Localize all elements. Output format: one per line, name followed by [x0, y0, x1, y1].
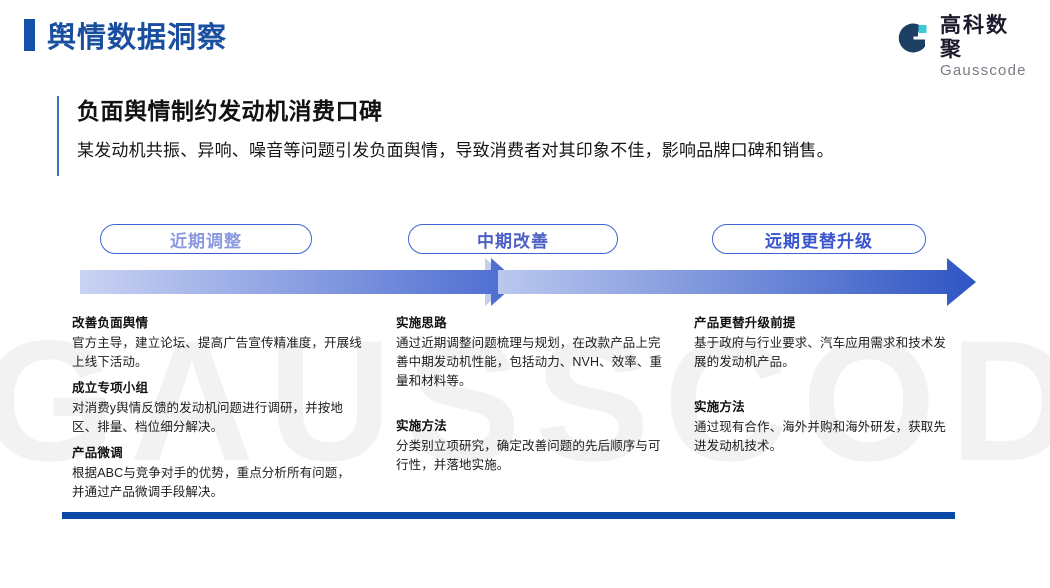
brand-name-en: Gausscode: [940, 62, 1028, 80]
section-body: 官方主导，建立论坛、提高广告宣传精准度，开展线上线下活动。: [72, 334, 362, 372]
section-heading: 改善负面舆情: [72, 314, 362, 333]
phase-pill-near-term[interactable]: 近期调整: [100, 224, 312, 254]
column-long-term: 产品更替升级前提 基于政府与行业要求、汽车应用需求和技术发展的发动机产品。 实施…: [694, 314, 956, 458]
bottom-accent-bar: [62, 512, 955, 519]
column-mid-term: 实施思路 通过近期调整问题梳理与规划，在改款产品上完善中期发动机性能，包括动力、…: [396, 314, 666, 477]
section-heading: 实施方法: [396, 417, 666, 436]
column-near-term: 改善负面舆情 官方主导，建立论坛、提高广告宣传精准度，开展线上线下活动。 成立专…: [72, 314, 362, 504]
page-header: 舆情数据洞察 高科数聚 Gausscode: [0, 0, 1050, 76]
phase-pill-long-term[interactable]: 远期更替升级: [712, 224, 926, 254]
section-heading: 实施思路: [396, 314, 666, 333]
brand-logo: 高科数聚 Gausscode: [892, 14, 1028, 62]
section-body: 分类别立项研究，确定改善问题的先后顺序与可行性，并落地实施。: [396, 437, 666, 475]
section-block: 产品微调 根据ABC与竞争对手的优势，重点分析所有问题，并通过产品微调手段解决。: [72, 444, 362, 502]
section-block: 实施方法 分类别立项研究，确定改善问题的先后顺序与可行性，并落地实施。: [396, 417, 666, 475]
section-heading: 产品微调: [72, 444, 362, 463]
brand-logo-text: 高科数聚 Gausscode: [940, 14, 1028, 80]
section-body: 基于政府与行业要求、汽车应用需求和技术发展的发动机产品。: [694, 334, 956, 372]
section-heading: 实施方法: [694, 398, 956, 417]
section-block: 实施方法 通过现有合作、海外并购和海外研发，获取先进发动机技术。: [694, 398, 956, 456]
section-body: 根据ABC与竞争对手的优势，重点分析所有问题，并通过产品微调手段解决。: [72, 464, 362, 502]
section-body: 对消费y舆情反馈的发动机问题进行调研，并按地区、排量、档位细分解决。: [72, 399, 362, 437]
section-heading: 产品更替升级前提: [694, 314, 956, 333]
section-body: 通过近期调整问题梳理与规划，在改款产品上完善中期发动机性能，包括动力、NVH、效…: [396, 334, 666, 391]
section-block: 成立专项小组 对消费y舆情反馈的发动机问题进行调研，并按地区、排量、档位细分解决…: [72, 379, 362, 437]
subheadline: 某发动机共振、异响、噪音等问题引发负面舆情，导致消费者对其印象不佳，影响品牌口碑…: [77, 138, 834, 164]
section-body: 通过现有合作、海外并购和海外研发，获取先进发动机技术。: [694, 418, 956, 456]
gausscode-logo-mark-icon: [892, 18, 932, 58]
progress-arrow-band: [80, 256, 990, 308]
brand-name-cn: 高科数聚: [940, 14, 1028, 62]
section-block: 产品更替升级前提 基于政府与行业要求、汽车应用需求和技术发展的发动机产品。: [694, 314, 956, 372]
section-heading: 成立专项小组: [72, 379, 362, 398]
headline: 负面舆情制约发动机消费口碑: [77, 96, 834, 126]
page-title: 舆情数据洞察: [47, 14, 227, 56]
title-block: 负面舆情制约发动机消费口碑 某发动机共振、异响、噪音等问题引发负面舆情，导致消费…: [57, 96, 834, 176]
section-block: 实施思路 通过近期调整问题梳理与规划，在改款产品上完善中期发动机性能，包括动力、…: [396, 314, 666, 391]
phase-pill-mid-term[interactable]: 中期改善: [408, 224, 618, 254]
header-accent-bar: [24, 19, 35, 51]
section-block: 改善负面舆情 官方主导，建立论坛、提高广告宣传精准度，开展线上线下活动。: [72, 314, 362, 372]
